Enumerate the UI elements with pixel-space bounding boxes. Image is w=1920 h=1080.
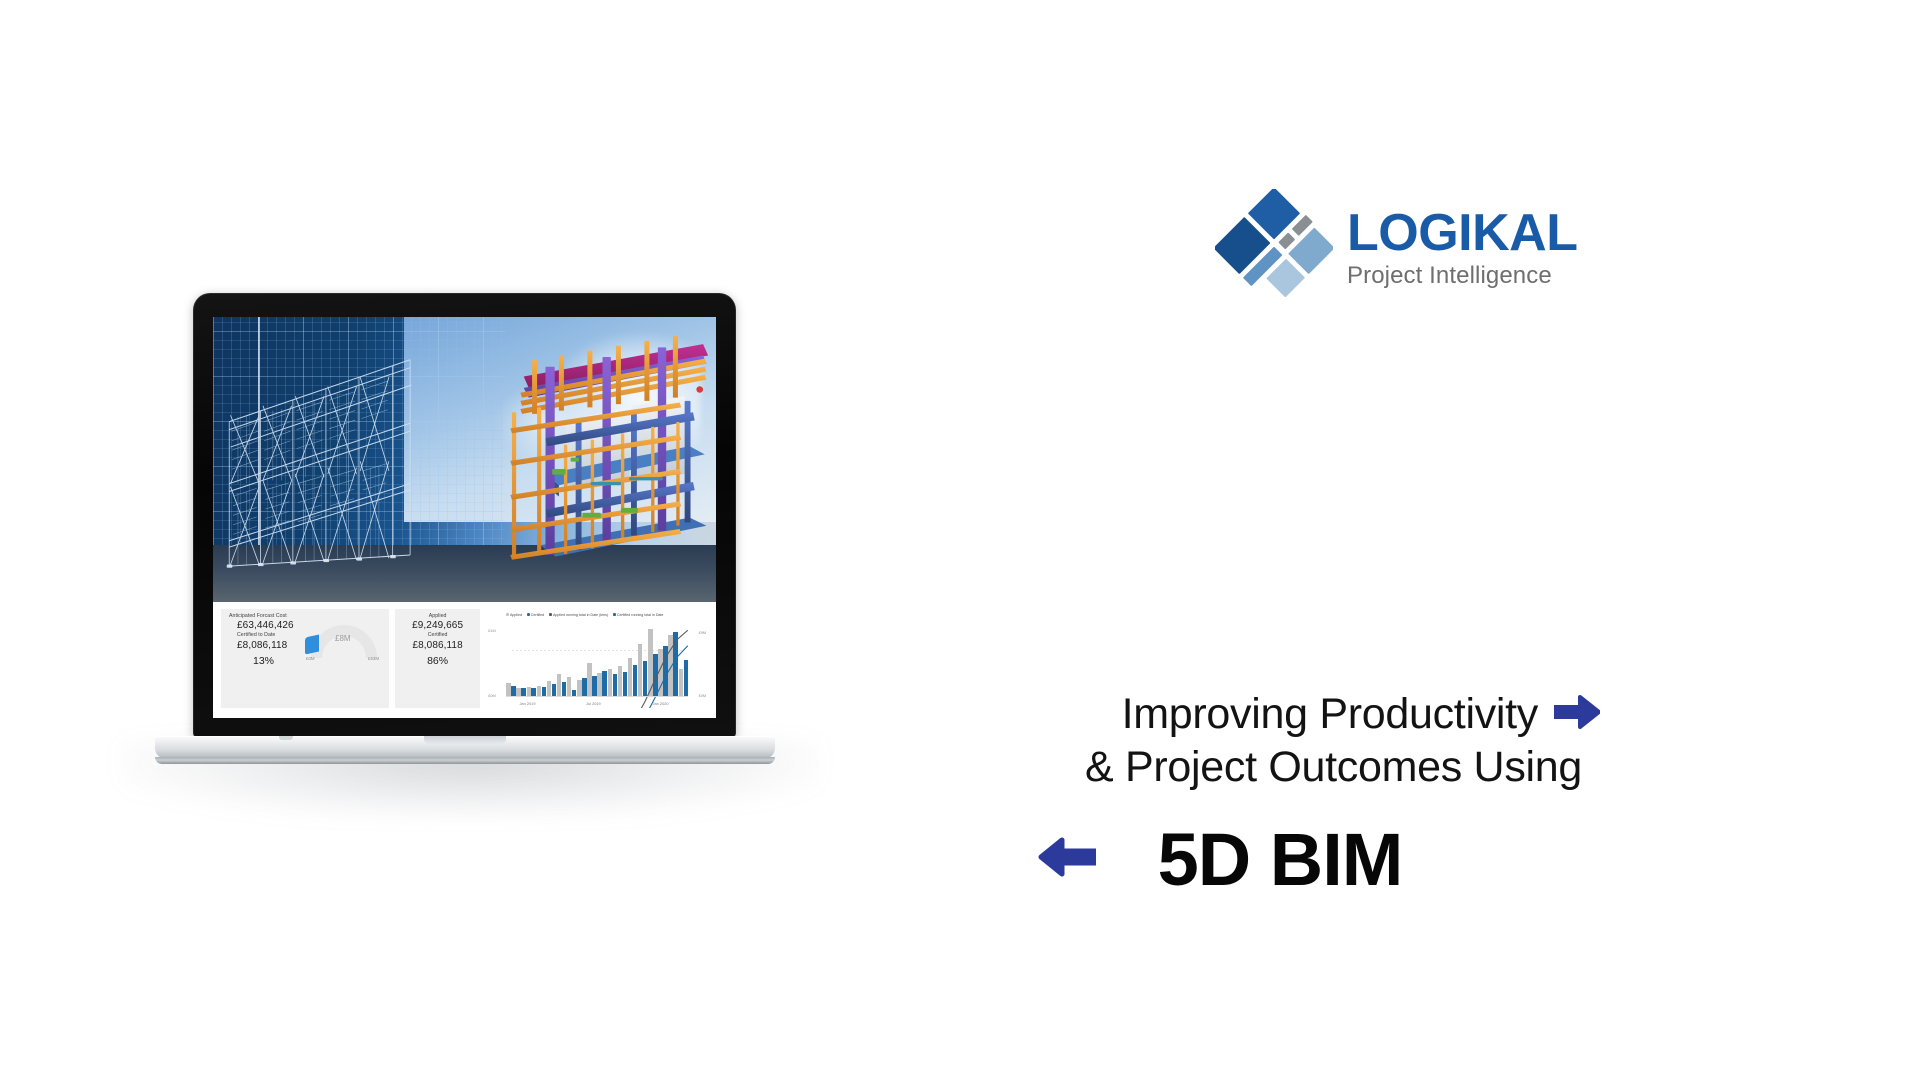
laptop-base-body xyxy=(155,736,775,759)
chart-legend-item[interactable]: Certified running total in Date xyxy=(613,613,663,617)
headline-row-two: & Project Outcomes Using xyxy=(880,743,1600,792)
gauge-center-label: £8M xyxy=(335,634,351,643)
chart-legend-item[interactable]: Certified xyxy=(527,613,544,617)
chart-trend-line xyxy=(506,645,688,708)
chart-baseline-axis xyxy=(506,696,688,697)
legend-swatch xyxy=(527,613,530,616)
y-axis-right-max-label: £9M xyxy=(699,631,706,635)
y-axis-left-max-label: £1M xyxy=(488,629,495,633)
subject-text-5d-bim: 5D BIM xyxy=(1158,823,1403,897)
legend-label: Applied xyxy=(510,613,522,617)
kpi-card-applied-certified[interactable]: Applied £9,249,665 Certified £8,086,118 … xyxy=(395,609,480,708)
kpi-value-applied: £9,249,665 xyxy=(412,619,463,633)
gauge-fill xyxy=(305,634,319,654)
kpi-value-certified: £8,086,118 xyxy=(412,639,462,653)
y-axis-right-min-label: £0M xyxy=(699,694,706,698)
chart-legend-item[interactable]: Applied running total in Date (bins) xyxy=(549,613,608,617)
subject-row: 5D BIM xyxy=(880,823,1600,897)
laptop-base-notch xyxy=(424,736,506,744)
kpi-value-forecast: £63,446,426 xyxy=(237,619,294,633)
chart-legend-item[interactable]: Applied xyxy=(506,613,522,617)
logikal-diamond-logo-icon xyxy=(1215,189,1333,307)
x-axis-tick-label: Jan 2019 xyxy=(519,701,535,706)
chart-plot-area xyxy=(506,623,688,697)
laptop-screen: Anticipated Forcast Cost £63,446,426 Cer… xyxy=(213,317,716,718)
laptop-mockup: Anticipated Forcast Cost £63,446,426 Cer… xyxy=(155,293,775,793)
legend-label: Certified xyxy=(531,613,544,617)
arrow-right-icon xyxy=(1554,694,1600,735)
legend-swatch xyxy=(506,613,509,616)
logikal-wordmark: LOGIKAL Project Intelligence xyxy=(1347,207,1577,289)
gauge-max-label: £63M xyxy=(368,656,379,661)
x-axis-tick-label: Jan 2020 xyxy=(653,701,669,706)
arrow-left-icon xyxy=(1038,835,1096,884)
laptop-hinge-detail xyxy=(279,736,293,740)
slide-canvas: Anticipated Forcast Cost £63,446,426 Cer… xyxy=(0,0,1920,1080)
kpi-card-anticipated-forecast-cost[interactable]: Anticipated Forcast Cost £63,446,426 Cer… xyxy=(221,609,389,708)
x-axis-tick-label: Jul 2019 xyxy=(586,701,601,706)
kpi-percent-applied: 86% xyxy=(427,655,448,667)
headline-line-1: Improving Productivity xyxy=(1122,690,1538,739)
kpi-value-certified-to-date: £8,086,118 xyxy=(237,639,287,653)
gauge-min-label: £0M xyxy=(306,656,315,661)
legend-swatch xyxy=(613,613,616,616)
chart-trend-lines xyxy=(506,623,688,708)
legend-label: Certified running total in Date xyxy=(617,613,664,617)
applied-vs-certified-chart[interactable]: AppliedCertifiedApplied running total in… xyxy=(486,609,708,708)
logo-name-text: LOGIKAL xyxy=(1347,207,1577,259)
rendered-steel-frame xyxy=(465,323,717,591)
laptop-lid: Anticipated Forcast Cost £63,446,426 Cer… xyxy=(193,293,736,738)
kpi-percent-forecast: 13% xyxy=(253,655,274,667)
bim-cost-dashboard: Anticipated Forcast Cost £63,446,426 Cer… xyxy=(213,602,716,718)
forecast-gauge: £8M £0M £63M xyxy=(305,623,383,669)
laptop-base-lip xyxy=(155,757,775,764)
legend-swatch xyxy=(549,613,552,616)
logikal-logo[interactable]: LOGIKAL Project Intelligence xyxy=(1215,188,1555,308)
legend-label: Applied running total in Date (bins) xyxy=(553,613,608,617)
logo-tagline-text: Project Intelligence xyxy=(1347,263,1577,289)
bim-model-render xyxy=(213,317,716,602)
headline-line-2: & Project Outcomes Using xyxy=(1085,743,1582,792)
y-axis-left-min-label: £0M xyxy=(488,694,495,698)
headline-row-one: Improving Productivity xyxy=(880,690,1600,739)
headline-block: Improving Productivity & Project Outcome… xyxy=(880,690,1600,897)
chart-legend: AppliedCertifiedApplied running total in… xyxy=(490,613,704,617)
laptop-base xyxy=(155,736,775,770)
